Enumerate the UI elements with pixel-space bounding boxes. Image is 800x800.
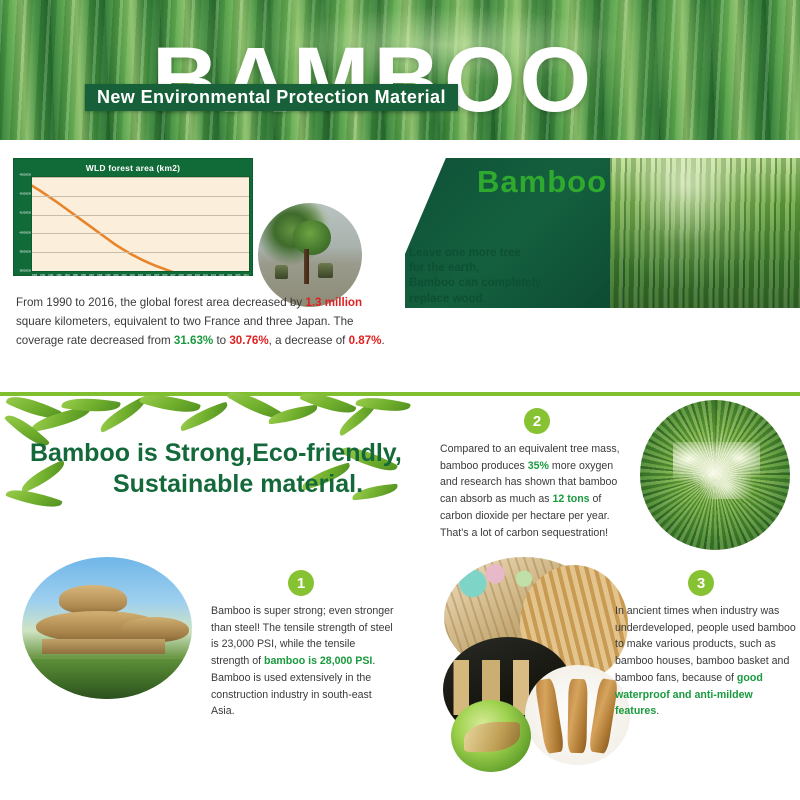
p2-stat-co2: 12 tons xyxy=(552,493,589,505)
chart-x-tick: 2006 xyxy=(162,272,167,280)
chart-x-tick: 2011 xyxy=(203,272,208,280)
p1-stat-tensile: bamboo is 28,000 PSI xyxy=(264,655,372,667)
bamboo-pole-icon xyxy=(534,678,564,754)
chart-x-tick: 2010 xyxy=(195,272,200,280)
bamboo-shoot-photo xyxy=(451,700,531,772)
chart-x-tick: 2013 xyxy=(219,272,224,280)
chart-x-tick: 2007 xyxy=(170,272,175,280)
chart-gridline xyxy=(32,215,249,216)
house-garden xyxy=(22,659,192,699)
point-1-text: Bamboo is super strong; even stronger th… xyxy=(211,603,396,720)
bamboo-slogan-block: Bamboo Leave one more tree for the earth… xyxy=(405,158,620,308)
chart-x-tick: 2015 xyxy=(235,272,240,280)
chart-plot-area xyxy=(31,176,250,272)
p3-seg-1: In ancient times when industry was under… xyxy=(615,605,796,684)
stat-coverage-delta: 0.87% xyxy=(349,334,382,347)
chart-gridline xyxy=(32,233,249,234)
chart-x-tick: 2012 xyxy=(211,272,216,280)
p2-stat-oxygen: 35% xyxy=(528,460,549,472)
bamboo-pole-icon xyxy=(567,679,587,753)
slogan-line-1: Leave one more tree xyxy=(409,246,541,261)
chart-y-tick: 39000000 xyxy=(19,252,31,255)
para-seg-1: From 1990 to 2016, the global forest are… xyxy=(16,296,305,309)
deforestation-photo xyxy=(258,203,362,307)
chart-x-tick: 1999 xyxy=(105,272,110,280)
chart-y-tick: 42000000 xyxy=(19,194,31,197)
headline-line-1: Bamboo is Strong,Eco-friendly, xyxy=(30,438,420,469)
chart-x-tick: 2001 xyxy=(122,272,127,280)
chart-x-tick: 1995 xyxy=(73,272,78,280)
chart-gridline xyxy=(32,177,249,178)
page-title: BAMBOO xyxy=(152,34,595,126)
chart-x-tick: 1996 xyxy=(81,272,86,280)
headline-line-2: Sustainable material. xyxy=(30,469,420,500)
forest-area-chart: WLD forest area (km2) 430000004200000041… xyxy=(13,158,253,276)
bamboo-grove-photo xyxy=(610,158,800,308)
tree-stump-icon xyxy=(318,263,333,278)
chart-x-tick: 2004 xyxy=(146,272,151,280)
chart-gridline xyxy=(32,196,249,197)
chart-y-tick: 41000000 xyxy=(19,213,31,216)
stat-area-decrease: 1.3 million xyxy=(305,296,362,309)
header-subtitle-banner: New Environmental Protection Material xyxy=(85,84,458,111)
chart-x-tick: 2008 xyxy=(179,272,184,280)
point-2-text: Compared to an equivalent tree mass, bam… xyxy=(440,441,622,541)
chart-y-axis: 4300000042000000410000004000000039000000… xyxy=(16,176,31,272)
forest-statistics-paragraph: From 1990 to 2016, the global forest are… xyxy=(16,294,396,350)
chart-x-tick: 2003 xyxy=(138,272,143,280)
infographic-page: BAMBOO New Environmental Protection Mate… xyxy=(0,0,800,800)
chart-x-tick: 2002 xyxy=(130,272,135,280)
chart-x-tick: 1994 xyxy=(65,272,70,280)
chart-line-series xyxy=(32,177,249,272)
chart-y-tick: 40000000 xyxy=(19,232,31,235)
chart-x-tick: 1990 xyxy=(32,272,37,280)
chart-title: WLD forest area (km2) xyxy=(16,161,250,176)
chart-x-tick: 2014 xyxy=(227,272,232,280)
para-seg-4: , a decrease of xyxy=(269,334,349,347)
point-3-badge: 3 xyxy=(688,570,714,596)
house-side-roof xyxy=(121,617,189,643)
chart-x-tick: 2000 xyxy=(113,272,118,280)
slogan-line-4: replace wood. xyxy=(409,292,541,307)
p3-seg-2: . xyxy=(656,705,659,717)
para-seg-5: . xyxy=(381,334,384,347)
house-upper-roof xyxy=(59,585,127,613)
section-divider xyxy=(0,392,800,396)
para-seg-3: to xyxy=(213,334,229,347)
slogan-line-3: Bamboo can completely xyxy=(409,276,541,291)
chart-x-tick: 1992 xyxy=(48,272,53,280)
chart-body: 4300000042000000410000004000000039000000… xyxy=(16,176,250,272)
chart-x-axis: 1990199119921993199419951996199719981999… xyxy=(31,272,250,280)
point-3-text: In ancient times when industry was under… xyxy=(615,603,797,720)
world-map-canopy-photo xyxy=(640,400,790,550)
bamboo-house-photo xyxy=(22,557,192,699)
chart-x-tick: 2005 xyxy=(154,272,159,280)
point-1-badge: 1 xyxy=(288,570,314,596)
tree-stump-icon xyxy=(275,265,289,279)
chart-x-tick: 1993 xyxy=(56,272,61,280)
chart-y-tick: 38000000 xyxy=(19,271,31,274)
header-section: BAMBOO New Environmental Protection Mate… xyxy=(0,0,800,140)
bamboo-wordmark: Bamboo xyxy=(477,166,607,197)
section-headline: Bamboo is Strong,Eco-friendly, Sustainab… xyxy=(30,438,420,500)
chart-x-tick: 1997 xyxy=(89,272,94,280)
slogan-line-2: for the earth, xyxy=(409,261,541,276)
house-deck xyxy=(42,639,164,653)
header-subtitle-text: New Environmental Protection Material xyxy=(97,87,446,108)
chart-x-tick: 2009 xyxy=(187,272,192,280)
chart-x-tick: 2016 xyxy=(243,272,248,280)
point-2-badge: 2 xyxy=(524,408,550,434)
chart-x-tick: 1991 xyxy=(40,272,45,280)
slogan-text: Leave one more tree for the earth, Bambo… xyxy=(409,246,541,307)
stat-coverage-after: 30.76% xyxy=(229,334,268,347)
chart-y-tick: 43000000 xyxy=(19,175,31,178)
chart-gridline xyxy=(32,252,249,253)
stat-coverage-before: 31.63% xyxy=(174,334,213,347)
chart-x-tick: 1998 xyxy=(97,272,102,280)
